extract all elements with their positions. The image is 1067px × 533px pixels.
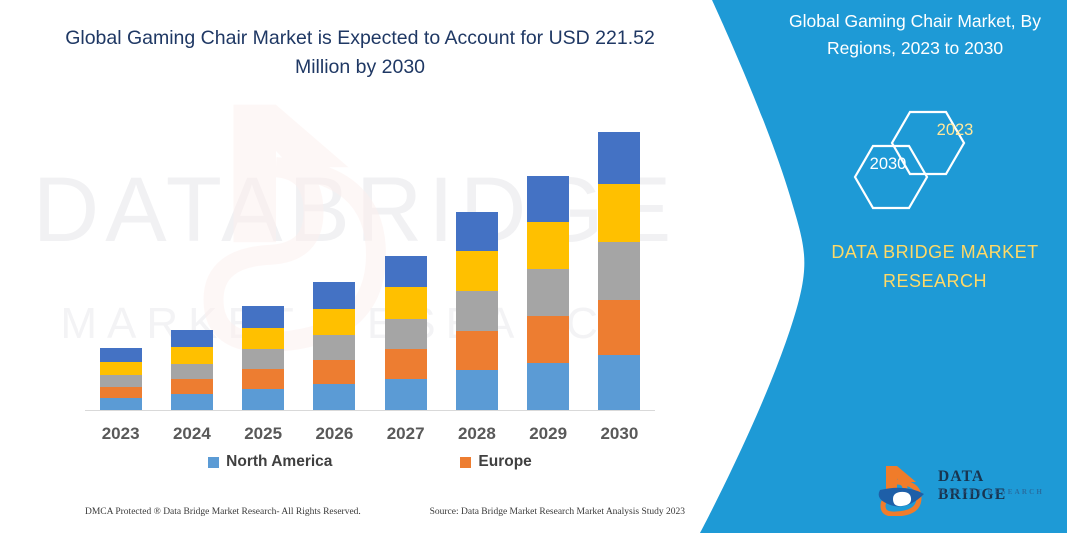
legend-item[interactable]: Europe: [460, 453, 531, 471]
footer-source: Source: Data Bridge Market Research Mark…: [430, 507, 685, 517]
bar-segment: [171, 347, 213, 364]
bar-segment: [527, 269, 569, 316]
footer: DMCA Protected ® Data Bridge Market Rese…: [85, 507, 685, 517]
brand-line-2: RESEARCH: [790, 267, 1067, 296]
bar-column-2028: [441, 120, 512, 410]
bar-segment: [598, 242, 640, 300]
x-axis-label-2026: 2026: [299, 424, 370, 444]
data-bridge-logo: DATA BRIDGE MARKET RESEARCH: [876, 462, 1056, 518]
bar-segment: [598, 132, 640, 184]
bar-segment: [313, 335, 355, 360]
bar-column-2023: [85, 120, 156, 410]
brand-name: DATA BRIDGE MARKET RESEARCH: [790, 238, 1067, 296]
bar-segment: [527, 176, 569, 222]
bar-segment: [527, 316, 569, 363]
bar-segment: [598, 300, 640, 355]
bar-segment: [171, 364, 213, 379]
x-axis-label-2029: 2029: [513, 424, 584, 444]
bar-segment: [242, 369, 284, 389]
bar-segment: [100, 362, 142, 375]
x-axis-label-2024: 2024: [156, 424, 227, 444]
bar-column-2030: [584, 120, 655, 410]
bar-segment: [100, 375, 142, 387]
stacked-bar: [385, 256, 427, 410]
bar-segment: [171, 379, 213, 394]
legend-label: North America: [226, 453, 332, 471]
infographic-canvas: DATABRIDGE MARKET RESEARCH Global Gaming…: [0, 0, 1067, 533]
bar-segment: [385, 319, 427, 349]
bar-column-2026: [299, 120, 370, 410]
x-axis-label-2025: 2025: [228, 424, 299, 444]
bar-column-2024: [156, 120, 227, 410]
stacked-bar: [527, 176, 569, 410]
hexagon-label-2030: 2030: [853, 155, 923, 174]
bar-segment: [100, 398, 142, 410]
bar-segment: [313, 282, 355, 309]
legend-swatch-icon: [460, 457, 471, 468]
bar-segment: [100, 387, 142, 398]
brand-line-1: DATA BRIDGE MARKET: [790, 238, 1067, 267]
bar-column-2029: [513, 120, 584, 410]
stacked-bar: [100, 348, 142, 410]
bar-column-2025: [228, 120, 299, 410]
bar-segment: [527, 363, 569, 410]
right-panel-title: Global Gaming Chair Market, By Regions, …: [770, 8, 1060, 62]
x-axis-label-2023: 2023: [85, 424, 156, 444]
bar-segment: [385, 256, 427, 287]
logo-subtext: MARKET RESEARCH: [939, 488, 1044, 496]
bar-segment: [313, 384, 355, 410]
bar-segment: [242, 328, 284, 349]
stacked-bar: [598, 132, 640, 410]
chart-legend: North AmericaEurope: [85, 453, 655, 471]
bar-segment: [242, 389, 284, 410]
x-axis-label-2030: 2030: [584, 424, 655, 444]
bar-segment: [456, 212, 498, 251]
bar-segment: [456, 370, 498, 410]
hexagon-group: 2030 2023: [815, 95, 1065, 215]
bar-segment: [242, 349, 284, 369]
bar-segment: [598, 355, 640, 410]
stacked-bar: [313, 282, 355, 410]
legend-label: Europe: [478, 453, 531, 471]
bar-segment: [456, 331, 498, 370]
page-title: Global Gaming Chair Market is Expected t…: [60, 24, 660, 83]
bar-segment: [313, 360, 355, 384]
bar-segment: [385, 379, 427, 410]
bar-segment: [100, 348, 142, 362]
stacked-bar: [242, 306, 284, 410]
bar-segment: [242, 306, 284, 328]
bar-segment: [171, 330, 213, 347]
bar-segment: [313, 309, 355, 335]
bar-segment: [598, 184, 640, 242]
bar-segment: [385, 287, 427, 319]
x-axis-label-2028: 2028: [441, 424, 512, 444]
bar-segment: [456, 291, 498, 331]
hexagon-label-2023: 2023: [920, 121, 990, 140]
chart-axis-line: [85, 410, 655, 411]
stacked-bar: [171, 330, 213, 410]
bar-segment: [171, 394, 213, 410]
x-axis-label-2027: 2027: [370, 424, 441, 444]
bar-segment: [385, 349, 427, 379]
legend-swatch-icon: [208, 457, 219, 468]
bar-segment: [527, 222, 569, 269]
chart-x-axis-labels: 20232024202520262027202820292030: [85, 424, 655, 444]
bar-column-2027: [370, 120, 441, 410]
legend-item[interactable]: North America: [208, 453, 332, 471]
data-bridge-mark-icon: [876, 462, 936, 516]
bar-segment: [456, 251, 498, 291]
stacked-bar-chart: [85, 120, 655, 410]
stacked-bar: [456, 212, 498, 410]
logo-text: DATA BRIDGE: [938, 468, 1056, 504]
footer-copyright: DMCA Protected ® Data Bridge Market Rese…: [85, 507, 361, 517]
